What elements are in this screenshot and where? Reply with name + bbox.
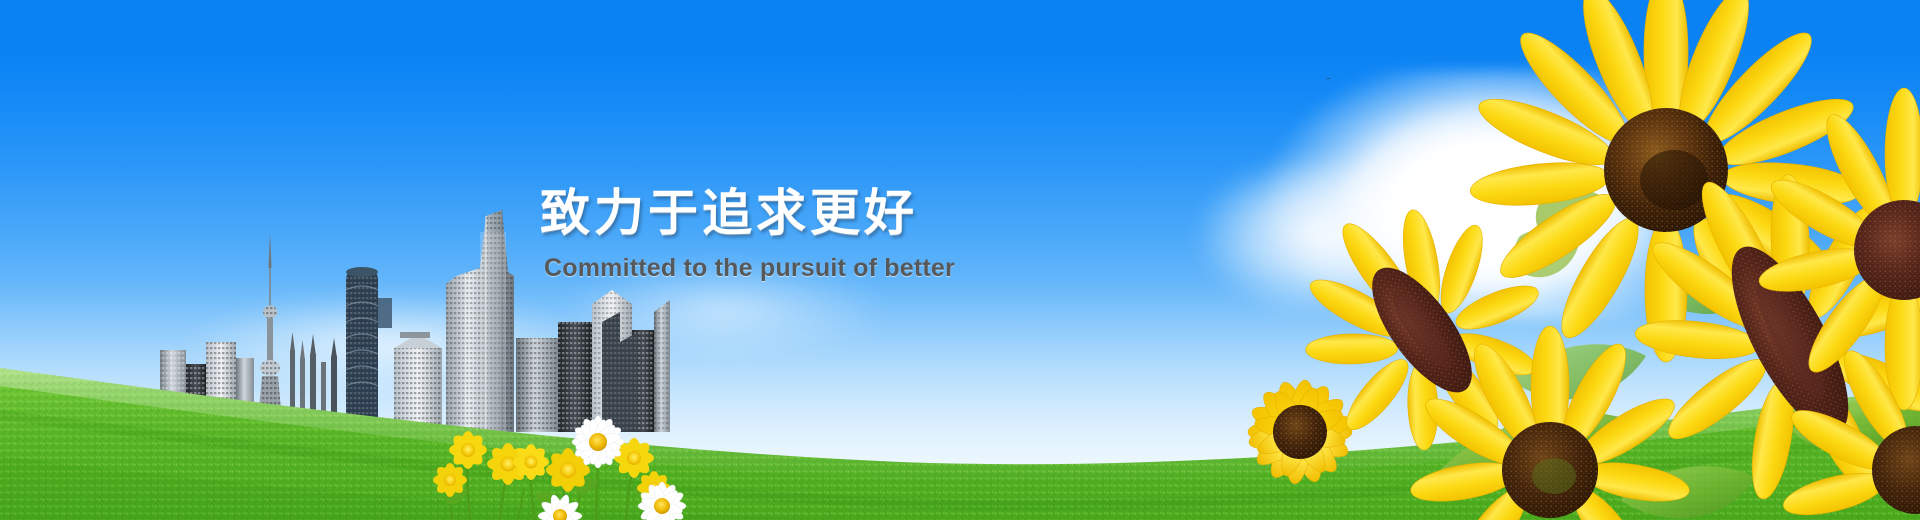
page-subtitle: Committed to the pursuit of better [544, 254, 1060, 283]
hero-banner: 致力于追求更好 Committed to the pursuit of bett… [0, 0, 1920, 520]
sunflower-cluster [1200, 0, 1920, 520]
banner-copy: 致力于追求更好 Committed to the pursuit of bett… [540, 186, 1060, 283]
sunflower-icon-small [1246, 378, 1354, 486]
page-title: 致力于追求更好 [540, 186, 1060, 240]
